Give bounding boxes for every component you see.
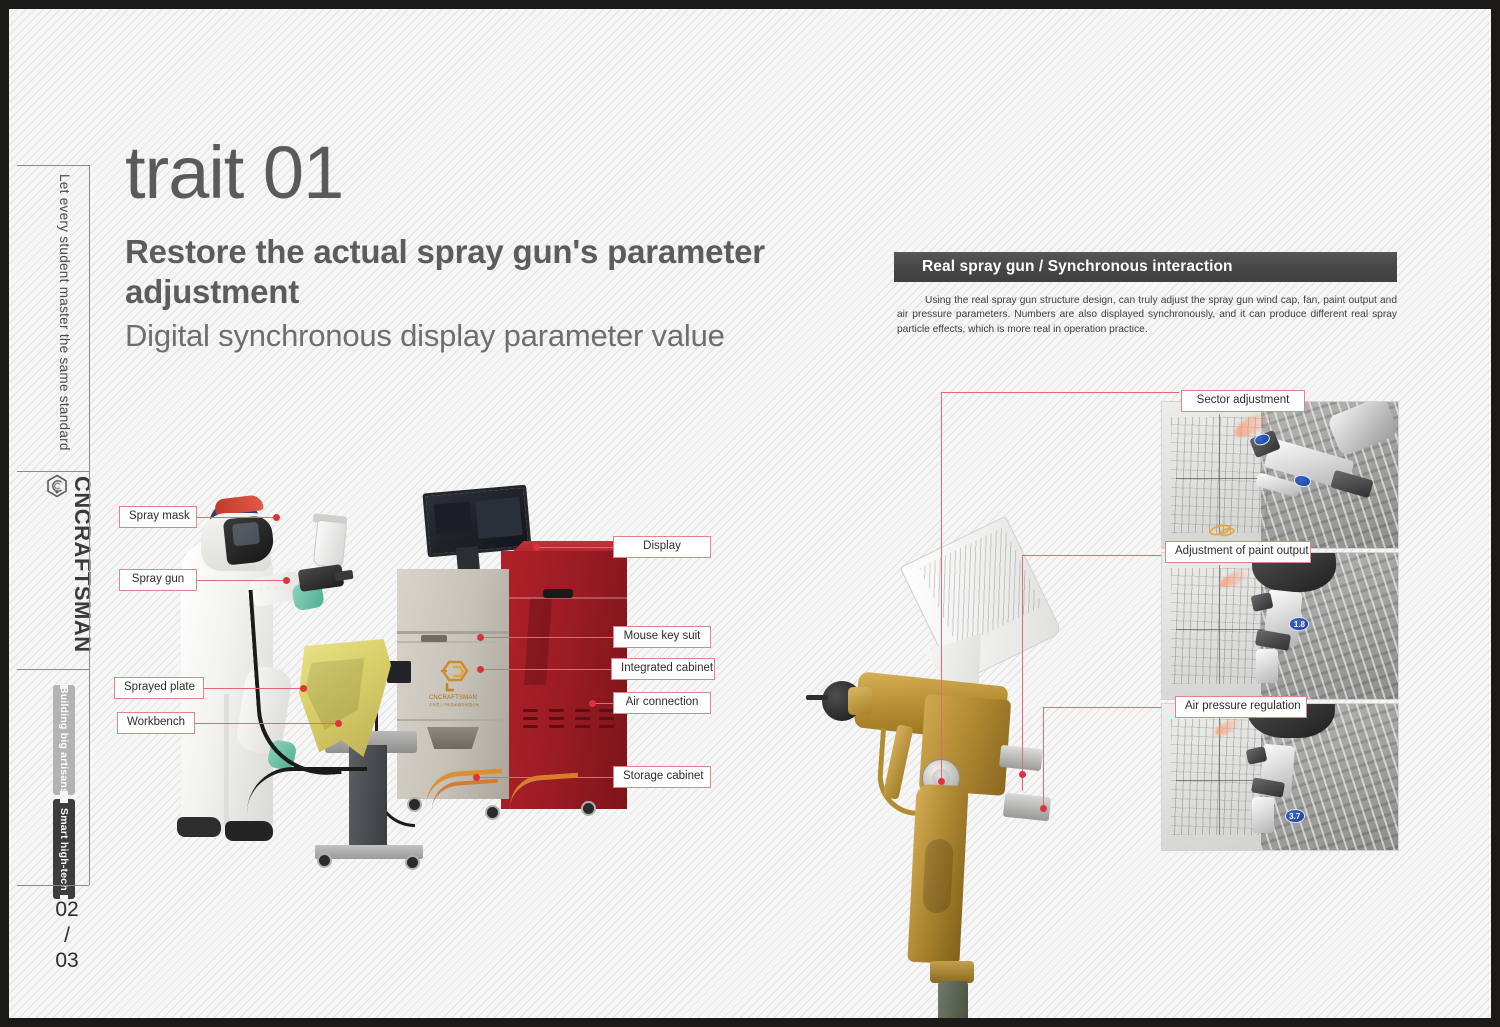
anchor-dot-integrated-cabinet [477,666,484,673]
cabinet-drawer-handle [421,635,447,642]
worker-leg-split [224,694,229,824]
simulator-panel-paint-output: 1.8 [1161,552,1399,700]
anchor-dot-workbench [335,720,342,727]
leader-sector-horiz [941,392,1179,393]
leader-paint-vert [1022,555,1023,791]
badge-smart-high-tech: Smart high-tech [53,799,75,899]
rail-divider-top [17,165,89,166]
anchor-dot-sprayed-plate [300,685,307,692]
held-spray-gun-nozzle [334,570,353,581]
rail-divider-lower [17,669,89,670]
leader-spray-mask [197,517,275,518]
brand-logo-block: CNCRAFTSMAN [43,474,95,653]
right-panel-header: Real spray gun / Synchronous interaction [894,252,1397,282]
cabinet-seam-1 [397,631,509,634]
brand-name: CNCRAFTSMAN [69,476,95,653]
worker-boot-left [177,817,221,837]
callout-mouse-key-suit[interactable]: Mouse key suit [613,626,711,648]
rail-vline-lower [89,471,90,669]
rail-divider-bottom [17,885,89,886]
callout-spray-gun[interactable]: Spray gun [119,569,197,591]
gun-needle [806,695,828,700]
real-spray-gun-illustration [804,529,1124,1018]
callout-integrated-cabinet[interactable]: Integrated cabinet [611,658,715,680]
cabinet-logo-subtext: 中车匠人汽车技术服务有限公司 [415,703,493,708]
rail-vline-upper [89,165,90,471]
gun-air-cap-ring [848,687,872,715]
leader-air-horiz [1043,707,1169,708]
callout-display[interactable]: Display [613,536,711,558]
anchor-dot-paint-output [1019,771,1026,778]
monitor-screen-left [434,501,472,534]
held-gun-paint-cup [313,520,348,569]
right-panel-body: Using the real spray gun structure desig… [897,294,1397,337]
callout-air-pressure[interactable]: Air pressure regulation [1175,696,1307,718]
brochure-page: Let every student master the same standa… [9,9,1491,1018]
callout-spray-mask[interactable]: Spray mask [119,506,197,528]
cabinet-handle [543,589,573,598]
anchor-dot-mouse-key-suit [477,634,484,641]
caster-wheel [317,853,332,868]
badge-light-label: Building big artisans [58,686,70,794]
gun-grip-slot [922,838,954,913]
caster-wheel [407,797,422,812]
leader-spray-gun [197,580,285,581]
badge-dark-label: Smart high-tech [58,808,70,891]
callout-sprayed-plate[interactable]: Sprayed plate [114,677,204,699]
callout-workbench[interactable]: Workbench [117,712,195,734]
leader-mouse-key-suit [483,637,613,638]
headline-block: trait 01 Restore the actual spray gun's … [125,137,765,356]
caster-wheel [405,855,420,870]
leader-paint-horiz [1022,555,1168,556]
leader-workbench [195,723,337,724]
caster-wheel [485,805,500,820]
leader-air-connection [595,703,613,704]
sim-gun-grip [1256,649,1278,683]
leader-sprayed-plate [204,688,302,689]
callout-paint-output[interactable]: Adjustment of paint output [1165,541,1311,563]
page-title: trait 01 [125,137,765,210]
cabinet-logo-icon [427,659,473,693]
leader-storage-cabinet [479,777,613,778]
leader-air-vert [1043,707,1044,809]
caster-wheel [581,801,596,816]
page-number: 02/03 [39,897,95,974]
anchor-dot-spray-gun [283,577,290,584]
rail-divider-mid [17,471,89,472]
simulator-panel-sector [1161,401,1399,549]
brand-tagline: Let every student master the same standa… [57,174,72,451]
cabinet-logo-text: CNCRAFTSMAN [417,695,489,701]
value-badge-air-pressure: 3.7 [1285,809,1305,823]
leader-integrated-cabinet [483,669,611,670]
anchor-dot-air-connection [589,700,596,707]
rail-vline-bottom [89,669,90,885]
badge-building-big-artisans: Building big artisans [53,685,75,795]
hexagon-spiral-logo-icon [45,474,69,498]
headline-bold: Restore the actual spray gun's parameter… [125,232,765,314]
anchor-dot-air-pressure [1040,805,1047,812]
gun-air-inlet [938,981,968,1018]
anchor-dot-sector [938,778,945,785]
callout-air-connection[interactable]: Air connection [613,692,711,714]
cabinet-tray [427,727,479,749]
anchor-dot-display [533,544,540,551]
worker-boot-right [225,821,273,841]
leader-sector-vert [941,392,942,782]
anchor-dot-storage-cabinet [473,774,480,781]
headline-light: Digital synchronous display parameter va… [125,317,765,356]
simulator-panel-air-pressure: 3.7 [1161,703,1399,851]
callout-sector-adjustment[interactable]: Sector adjustment [1181,390,1305,412]
spray-mask-glass [232,522,260,547]
callout-storage-cabinet[interactable]: Storage cabinet [613,766,711,788]
leader-display [537,547,613,548]
monitor-screen-right [475,497,522,539]
anchor-dot-spray-mask [273,514,280,521]
left-sidebar-rail: Let every student master the same standa… [9,9,105,1018]
gun-fitting-upper [999,745,1043,771]
right-panel-title: Real spray gun / Synchronous interaction [922,258,1233,276]
cabinet-seam-2 [397,641,509,643]
sim-gun-grip [1252,797,1274,833]
gun-base [930,961,974,983]
